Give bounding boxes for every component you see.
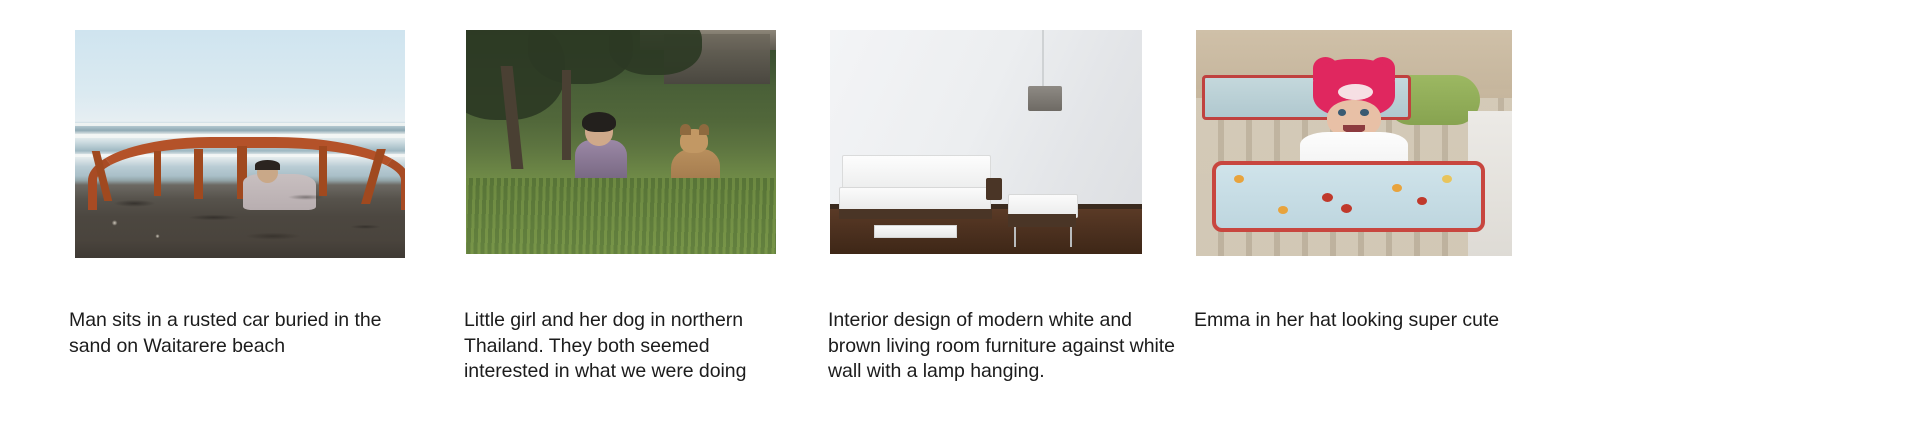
gallery-panel-2: Little girl and her dog in northern Thai… (455, 0, 810, 426)
living-room-scene-illustration (830, 30, 1142, 254)
panel-2-caption: Little girl and her dog in northern Thai… (464, 308, 769, 385)
gallery-panel-4: Emma in her hat looking super cute (1190, 0, 1590, 426)
panel-2-image[interactable] (466, 30, 776, 254)
beach-scene-illustration (75, 30, 405, 258)
thailand-scene-illustration (466, 30, 776, 254)
caption-gallery: Man sits in a rusted car buried in the s… (0, 0, 1917, 426)
panel-4-image[interactable] (1196, 30, 1512, 256)
panel-3-caption: Interior design of modern white and brow… (828, 308, 1198, 385)
gallery-panel-3: Interior design of modern white and brow… (820, 0, 1180, 426)
panel-3-image[interactable] (830, 30, 1142, 254)
panel-1-caption: Man sits in a rusted car buried in the s… (69, 308, 414, 359)
pendant-lamp (1028, 86, 1062, 111)
gallery-panel-1: Man sits in a rusted car buried in the s… (0, 0, 470, 426)
panel-1-image[interactable] (75, 30, 405, 258)
baby-crib-scene-illustration (1196, 30, 1512, 256)
panel-4-caption: Emma in her hat looking super cute (1194, 308, 1594, 334)
